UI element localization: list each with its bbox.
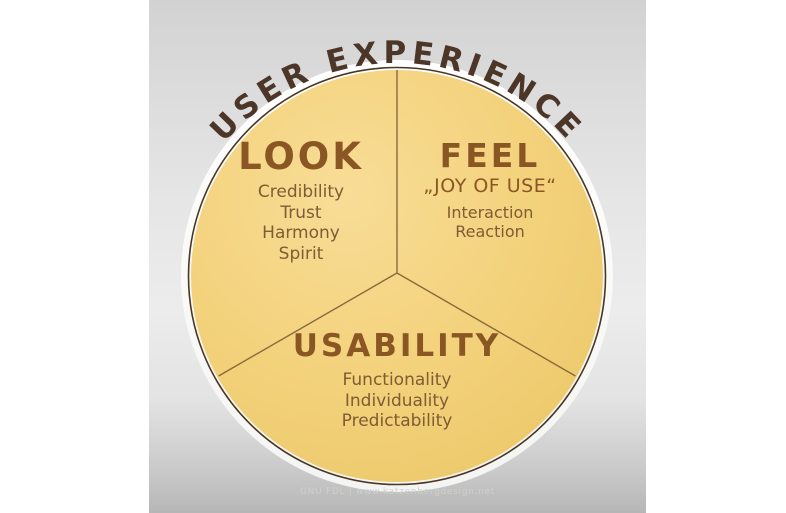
segment-look-items: Credibility Trust Harmony Spirit (216, 182, 386, 265)
segment-feel-title: FEEL (405, 139, 575, 172)
diagram-canvas: USER EXPERIENCE LOOK Credibility Trust H… (0, 0, 786, 513)
user-experience-wheel: USER EXPERIENCE (0, 0, 786, 513)
segment-look-title: LOOK (216, 138, 386, 175)
segment-usability-items: Functionality Individuality Predictabili… (272, 370, 522, 432)
segment-feel: FEEL „JOY OF USE“ Interaction Reaction (405, 139, 575, 242)
segment-feel-items: Interaction Reaction (405, 203, 575, 242)
segment-look: LOOK Credibility Trust Harmony Spirit (216, 138, 386, 265)
segment-usability: USABILITY Functionality Individuality Pr… (272, 331, 522, 432)
credit-line: GNU FDL | www.katzenbergdesign.net (149, 487, 646, 497)
segment-usability-title: USABILITY (272, 331, 522, 362)
segment-feel-quote: „JOY OF USE“ (405, 176, 575, 197)
